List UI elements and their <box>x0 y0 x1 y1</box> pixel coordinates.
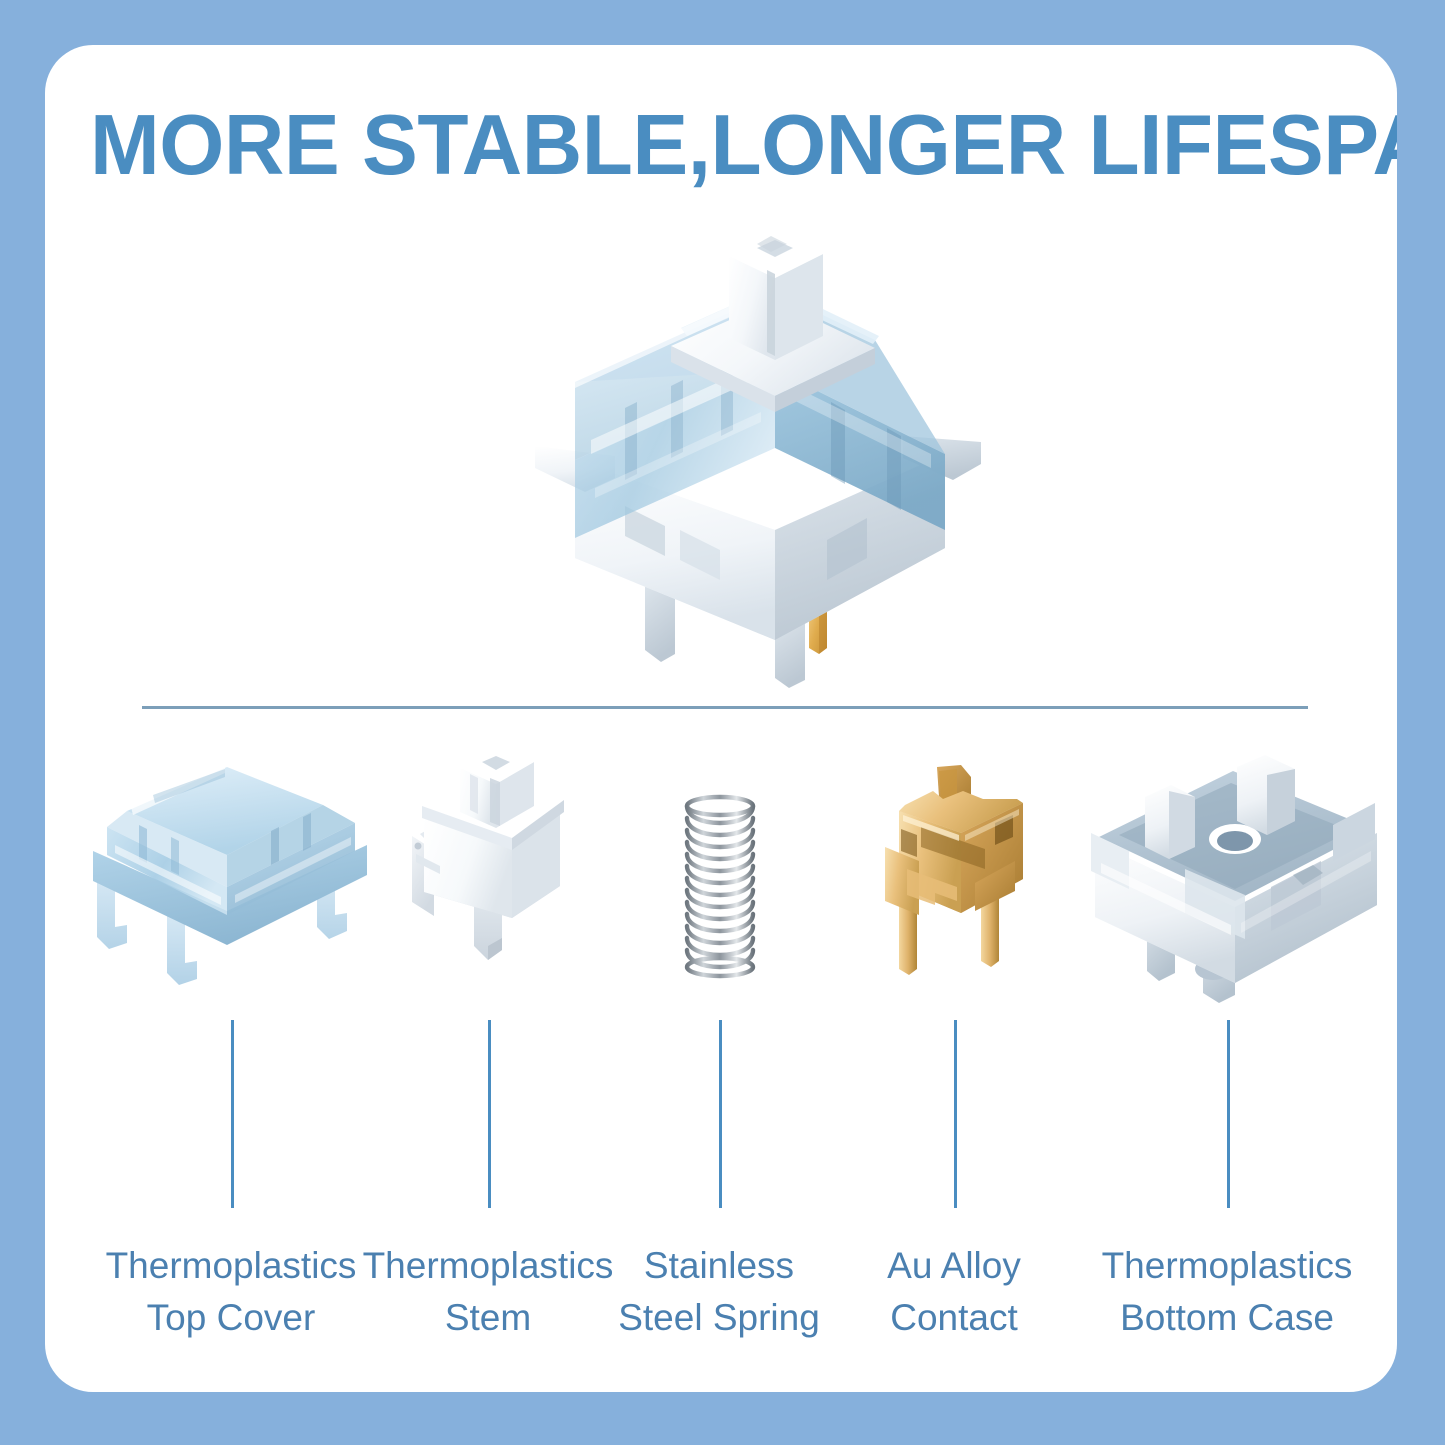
caption-bottom-case-line1: Thermoplastics <box>1102 1245 1353 1286</box>
caption-bottom-case: Thermoplastics Bottom Case <box>1077 1240 1377 1344</box>
caption-bottom-case-line2: Bottom Case <box>1077 1292 1377 1344</box>
leader-line-bottom-case <box>1227 1020 1230 1208</box>
page-title: MORE STABLE,LONGER LIFESPAN <box>90 103 1361 189</box>
component-captions: Thermoplastics Top Cover Thermoplastics … <box>45 1240 1397 1370</box>
leader-line-spring <box>719 1020 722 1208</box>
caption-top-cover-line2: Top Cover <box>81 1292 381 1344</box>
top-cover-rib-2 <box>171 837 179 875</box>
assembled-switch-icon <box>475 230 1035 710</box>
switch-bottom-case-icon <box>1085 755 1385 1005</box>
caption-spring-line1: Stainless <box>644 1245 794 1286</box>
spring-coils <box>687 797 753 976</box>
switch-spring-icon <box>655 790 785 985</box>
caption-contact: Au Alloy Contact <box>804 1240 1104 1344</box>
stem-cross-slot-c <box>470 774 478 814</box>
top-housing-rib-1 <box>625 402 637 480</box>
component-parts-row <box>45 745 1397 1045</box>
stem-groove <box>767 270 775 356</box>
switch-stem-icon <box>400 750 585 1000</box>
top-cover-rib-4 <box>303 813 311 851</box>
top-cover-rib-3 <box>271 827 279 865</box>
top-housing-rib-2 <box>671 380 683 458</box>
hero-switch-illustration <box>475 230 1035 710</box>
product-infographic-card: MORE STABLE,LONGER LIFESPAN <box>45 45 1397 1392</box>
leader-line-top-cover <box>231 1020 234 1208</box>
leader-line-contact <box>954 1020 957 1208</box>
part-contact <box>865 765 1055 1000</box>
caption-contact-line1: Au Alloy <box>887 1245 1021 1286</box>
part-stem <box>400 750 585 1000</box>
part-top-cover <box>75 755 385 1005</box>
bottom-case-center-hole <box>1217 831 1253 851</box>
leader-line-stem <box>488 1020 491 1208</box>
part-spring <box>655 790 785 985</box>
switch-gold-contact-icon <box>865 765 1055 1000</box>
caption-contact-line2: Contact <box>804 1292 1104 1344</box>
bottom-case-wall-left-shade <box>1169 791 1195 859</box>
stem-cross-slot-b <box>490 778 500 826</box>
part-bottom-case <box>1085 755 1385 1005</box>
caption-top-cover: Thermoplastics Top Cover <box>81 1240 381 1344</box>
switch-top-cover-icon <box>75 755 385 1005</box>
section-divider <box>142 706 1308 709</box>
caption-top-cover-line1: Thermoplastics <box>106 1245 357 1286</box>
stem-side-hole <box>415 843 422 850</box>
top-cover-rib-1 <box>139 825 147 863</box>
